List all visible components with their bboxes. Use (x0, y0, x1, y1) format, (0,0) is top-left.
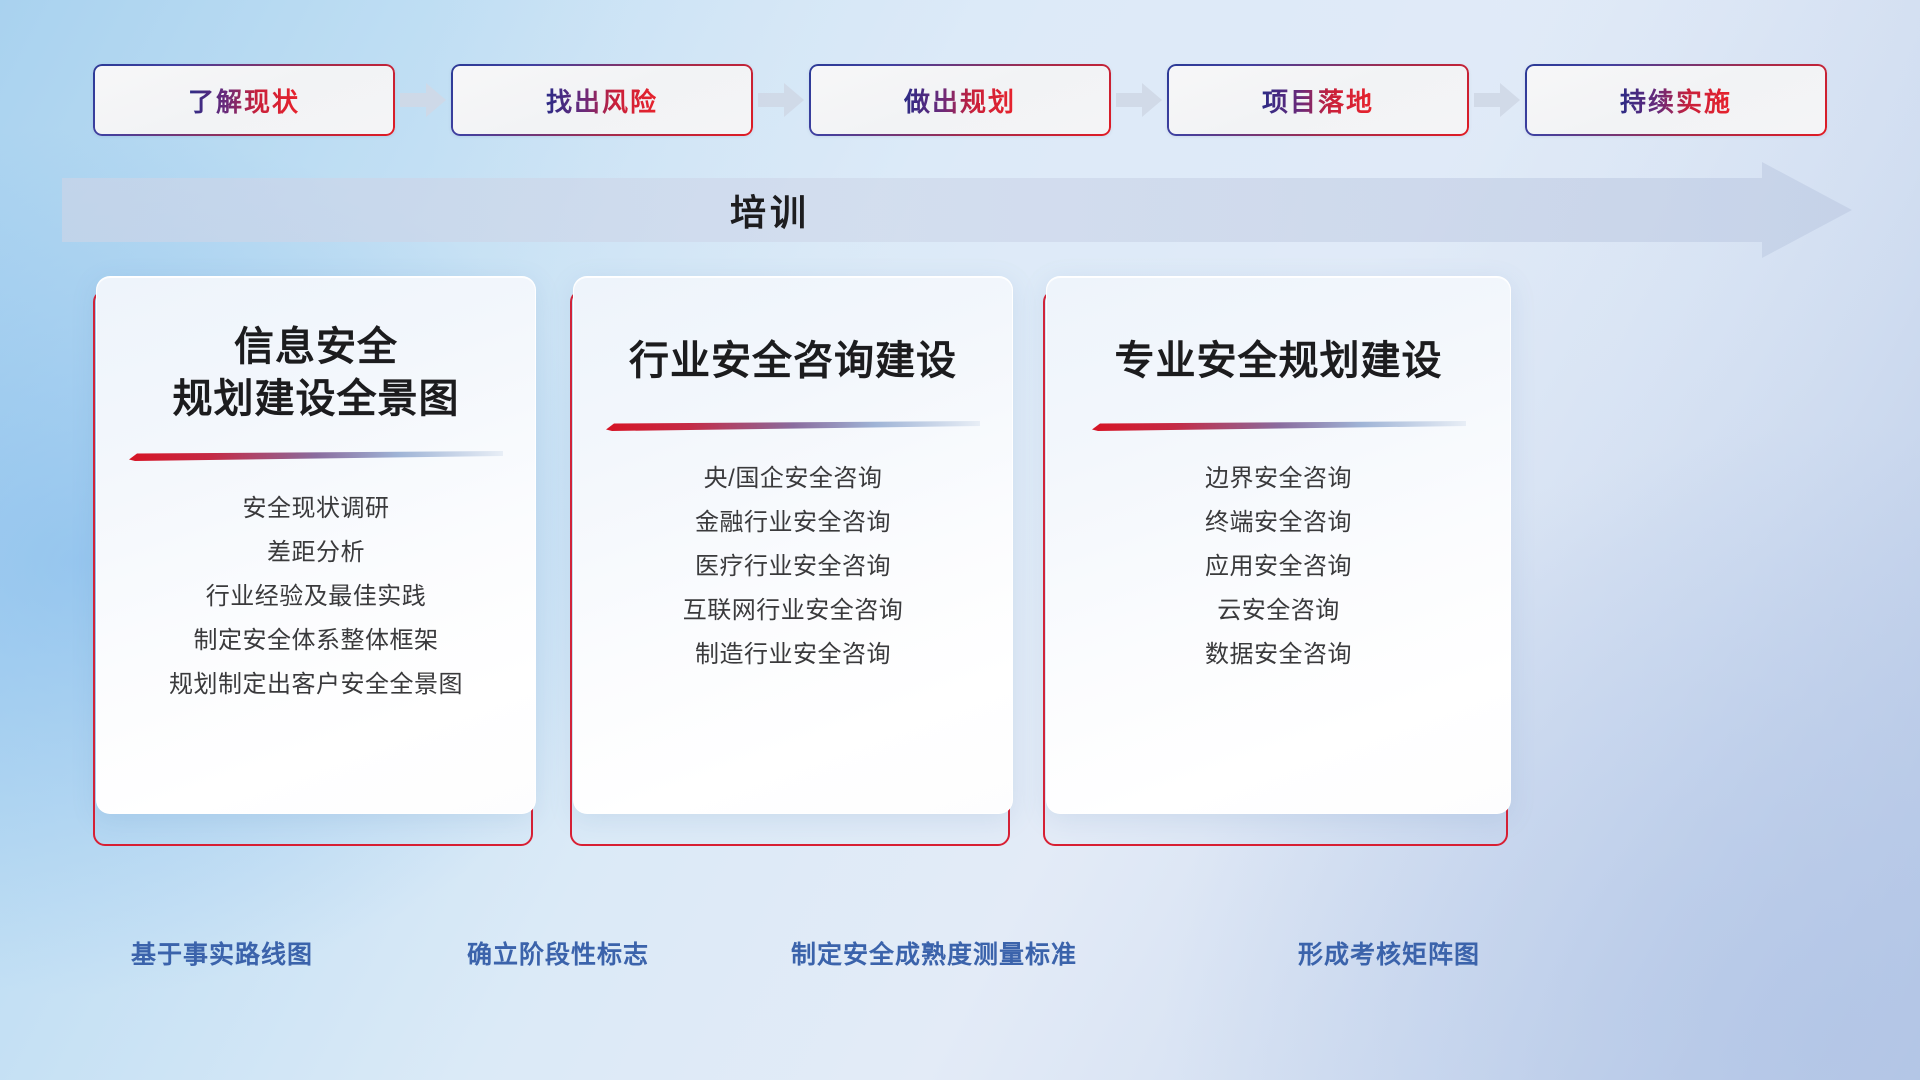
card-divider-icon (129, 451, 503, 461)
training-banner-label-wrap: 培训 (0, 162, 1540, 258)
step-label: 持续实施 (1620, 82, 1732, 119)
card-surface: 信息安全 规划建设全景图 安全现状调研 (96, 276, 536, 814)
list-item: 数据安全咨询 (1047, 633, 1510, 677)
step-label: 做出规划 (904, 82, 1016, 119)
card-surface: 行业安全咨询建设 央/国企安全咨询 (573, 276, 1013, 814)
step-box-4[interactable]: 持续实施 (1525, 64, 1827, 136)
outcome-label-2: 制定安全成熟度测量标准 (791, 935, 1077, 971)
list-item: 应用安全咨询 (1047, 545, 1510, 589)
step-arrow-icon-3 (1469, 55, 1525, 145)
step-label: 项目落地 (1262, 82, 1374, 119)
card-item-list: 央/国企安全咨询 金融行业安全咨询 医疗行业安全咨询 互联网行业安全咨询 制造行… (574, 457, 1012, 677)
service-card-2[interactable]: 专业安全规划建设 边界安全咨询 (1043, 276, 1508, 871)
step-arrow-icon-2 (1111, 55, 1167, 145)
list-item: 安全现状调研 (97, 487, 535, 531)
list-item: 制造行业安全咨询 (574, 633, 1012, 677)
card-item-list: 边界安全咨询 终端安全咨询 应用安全咨询 云安全咨询 数据安全咨询 (1047, 457, 1510, 677)
list-item: 央/国企安全咨询 (574, 457, 1012, 501)
step-arrow-icon-1 (753, 55, 809, 145)
step-box-1[interactable]: 找出风险 (451, 64, 753, 136)
list-item: 终端安全咨询 (1047, 501, 1510, 545)
card-title: 信息安全 规划建设全景图 (173, 321, 460, 425)
list-item: 差距分析 (97, 531, 535, 575)
list-item: 云安全咨询 (1047, 589, 1510, 633)
service-card-0[interactable]: 信息安全 规划建设全景图 安全现状调研 (93, 276, 533, 871)
outcome-label-row: 基于事实路线图 确立阶段性标志 制定安全成熟度测量标准 形成考核矩阵图 (0, 935, 1920, 995)
step-label: 了解现状 (188, 82, 300, 119)
list-item: 规划制定出客户安全全景图 (97, 663, 535, 707)
outcome-label-0: 基于事实路线图 (131, 935, 313, 971)
list-item: 医疗行业安全咨询 (574, 545, 1012, 589)
step-arrow-icon-0 (395, 55, 451, 145)
list-item: 边界安全咨询 (1047, 457, 1510, 501)
list-item: 金融行业安全咨询 (574, 501, 1012, 545)
card-title: 行业安全咨询建设 (629, 335, 957, 387)
step-box-0[interactable]: 了解现状 (93, 64, 395, 136)
list-item: 行业经验及最佳实践 (97, 575, 535, 619)
list-item: 制定安全体系整体框架 (97, 619, 535, 663)
process-step-row: 了解现状 找出风险 做出规划 项目落地 持续实施 (0, 55, 1920, 145)
card-title: 专业安全规划建设 (1115, 335, 1443, 387)
step-label: 找出风险 (546, 82, 658, 119)
service-card-1[interactable]: 行业安全咨询建设 央/国企安全咨询 (570, 276, 1010, 871)
card-surface: 专业安全规划建设 边界安全咨询 (1046, 276, 1511, 814)
card-item-list: 安全现状调研 差距分析 行业经验及最佳实践 制定安全体系整体框架 规划制定出客户… (97, 487, 535, 707)
training-banner-label: 培训 (730, 184, 810, 236)
outcome-label-1: 确立阶段性标志 (467, 935, 649, 971)
step-box-2[interactable]: 做出规划 (809, 64, 1111, 136)
outcome-label-3: 形成考核矩阵图 (1298, 935, 1480, 971)
step-box-3[interactable]: 项目落地 (1167, 64, 1469, 136)
card-divider-icon (606, 421, 980, 431)
card-divider-icon (1092, 421, 1466, 431)
service-card-group: 信息安全 规划建设全景图 安全现状调研 (0, 276, 1920, 871)
list-item: 互联网行业安全咨询 (574, 589, 1012, 633)
